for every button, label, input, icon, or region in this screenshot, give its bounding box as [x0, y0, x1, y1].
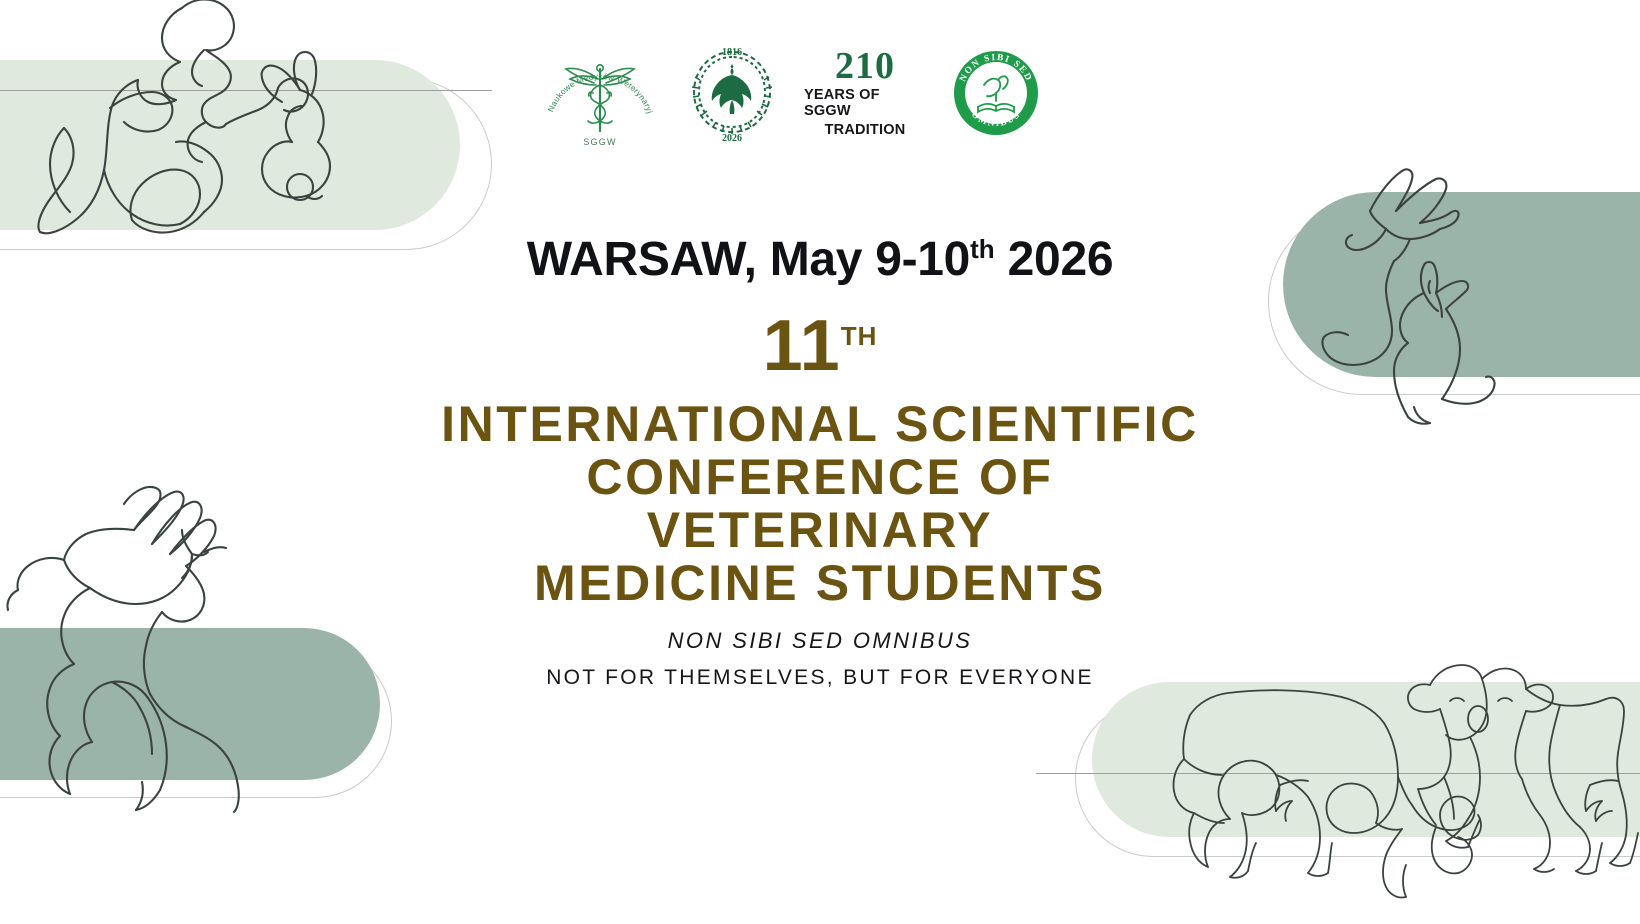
logo3-number: 210: [835, 47, 895, 85]
cat-and-bird-line-art: [1262, 145, 1582, 435]
logo3-line2: TRADITION: [825, 122, 906, 139]
dog-and-rabbit-line-art: [0, 0, 420, 262]
logo-sggw-anniversary-seal: 1816 2026: [686, 42, 778, 144]
title-line-3: VETERINARY: [0, 504, 1640, 557]
location-date-line: WARSAW, May 9-10th 2026: [0, 232, 1640, 287]
edition-number-line: 11TH: [0, 310, 1640, 382]
edition-number: 11: [763, 306, 841, 386]
title-line-2: CONFERENCE OF: [0, 451, 1640, 504]
logo-kolo-naukowe-medykow-weterynaryjnych: Koło Naukowe Medyków Weterynaryjnych: [540, 35, 660, 150]
logo2-year-bottom: 2026: [722, 133, 742, 144]
location-date-prefix: WARSAW, May 9-10: [527, 233, 970, 286]
eagle-laurel-icon: 1816 2026: [692, 47, 772, 144]
page-title: INTERNATIONAL SCIENTIFIC CONFERENCE OF V…: [0, 398, 1640, 610]
title-line-4: MEDICINE STUDENTS: [0, 557, 1640, 610]
location-date-year: 2026: [995, 233, 1114, 286]
logo-non-sibi-sed-omnibus-seal: NON SIBI SED OMNIBUS: [952, 49, 1040, 137]
caduceus-icon: [566, 65, 634, 131]
location-date-suffix-th: th: [970, 234, 995, 264]
title-line-1: INTERNATIONAL SCIENTIFIC: [0, 398, 1640, 451]
motto-english: NOT FOR THEMSELVES, BUT FOR EVERYONE: [0, 666, 1640, 690]
logo-row: Koło Naukowe Medyków Weterynaryjnych: [540, 30, 1040, 155]
motto-latin: NON SIBI SED OMNIBUS: [0, 628, 1640, 654]
logo3-line1: YEARS OF SGGW: [804, 87, 926, 120]
logo-sggw-210-years: 210 YEARS OF SGGW TRADITION: [804, 47, 926, 139]
logo2-year-top: 1816: [722, 47, 742, 58]
edition-ordinal-suffix: TH: [841, 321, 878, 351]
logo1-bottom-text: SGGW: [583, 137, 616, 147]
conference-poster: Koło Naukowe Medyków Weterynaryjnych: [0, 0, 1640, 924]
